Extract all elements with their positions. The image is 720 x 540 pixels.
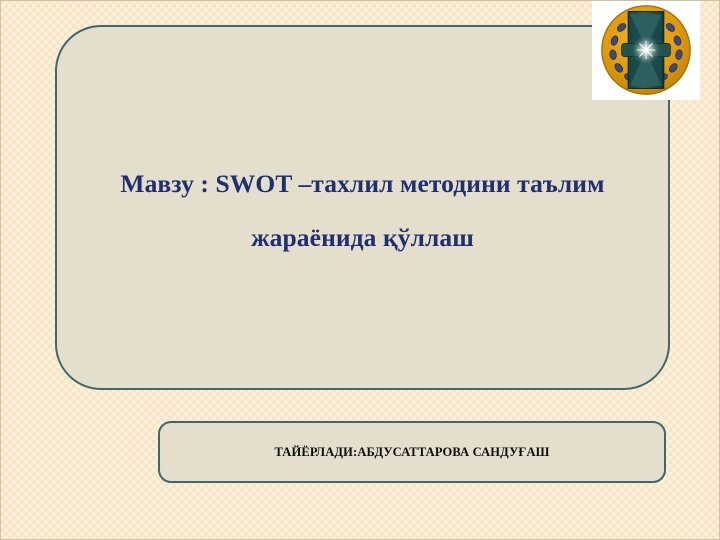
title-panel: Мавзу : SWOT –тахлил методини таълим жар… bbox=[55, 25, 670, 390]
slide-title-line-2: жараёнида қўллаш bbox=[83, 225, 643, 251]
slide-title-line-1: Мавзу : SWOT –тахлил методини таълим bbox=[83, 171, 643, 197]
author-panel: ТАЙЁРЛАДИ:АБДУСАТТАРОВА САНДУҒАШ bbox=[158, 421, 666, 483]
author-credit-text: ТАЙЁРЛАДИ:АБДУСАТТАРОВА САНДУҒАШ bbox=[274, 445, 549, 460]
institution-emblem-icon bbox=[599, 3, 693, 97]
logo-container bbox=[592, 0, 700, 100]
slide-canvas: Мавзу : SWOT –тахлил методини таълим жар… bbox=[0, 0, 720, 540]
title-block: Мавзу : SWOT –тахлил методини таълим жар… bbox=[83, 171, 643, 250]
